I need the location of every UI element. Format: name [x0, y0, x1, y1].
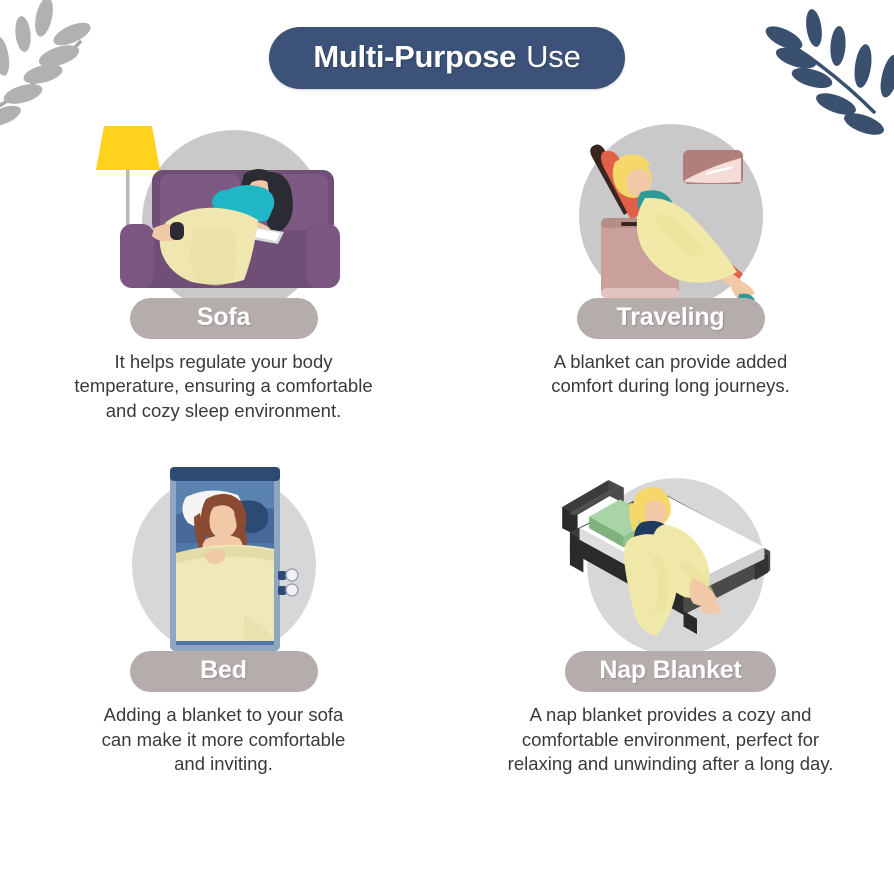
card-label-pill-sofa: Sofa [130, 298, 318, 339]
traveling-illustration [541, 112, 801, 312]
card-label-pill-traveling: Traveling [577, 298, 765, 339]
poster-root: Multi-Purpose Use [0, 0, 894, 894]
card-description-traveling: A blanket can provide added comfort duri… [551, 350, 790, 399]
card-label-bed: Bed [200, 656, 247, 684]
card-label-pill-nap-blanket: Nap Blanket [565, 651, 775, 692]
page-title-light: Use [526, 39, 581, 75]
nap-blanket-illustration [541, 455, 801, 665]
card-label-nap-blanket: Nap Blanket [599, 656, 741, 684]
feature-card-sofa: Sofa It helps regulate your body tempera… [0, 112, 447, 423]
card-description-sofa: It helps regulate your body temperature,… [74, 350, 372, 423]
feature-grid: Sofa It helps regulate your body tempera… [0, 112, 894, 776]
card-description-nap-blanket: A nap blanket provides a cozy and comfor… [508, 703, 834, 776]
card-description-bed: Adding a blanket to your sofa can make i… [102, 703, 346, 776]
bed-illustration [94, 455, 354, 665]
card-label-sofa: Sofa [197, 303, 250, 331]
feature-card-nap-blanket: Nap Blanket A nap blanket provides a coz… [447, 455, 894, 776]
card-label-pill-bed: Bed [130, 651, 318, 692]
card-label-traveling: Traveling [617, 303, 725, 331]
sofa-illustration [94, 112, 354, 312]
feature-card-traveling: Traveling A blanket can provide added co… [447, 112, 894, 423]
title-pill: Multi-Purpose Use [269, 27, 624, 89]
page-title-strong: Multi-Purpose [313, 39, 516, 75]
title-banner: Multi-Purpose Use [0, 27, 894, 89]
feature-card-bed: Bed Adding a blanket to your sofa can ma… [0, 455, 447, 776]
